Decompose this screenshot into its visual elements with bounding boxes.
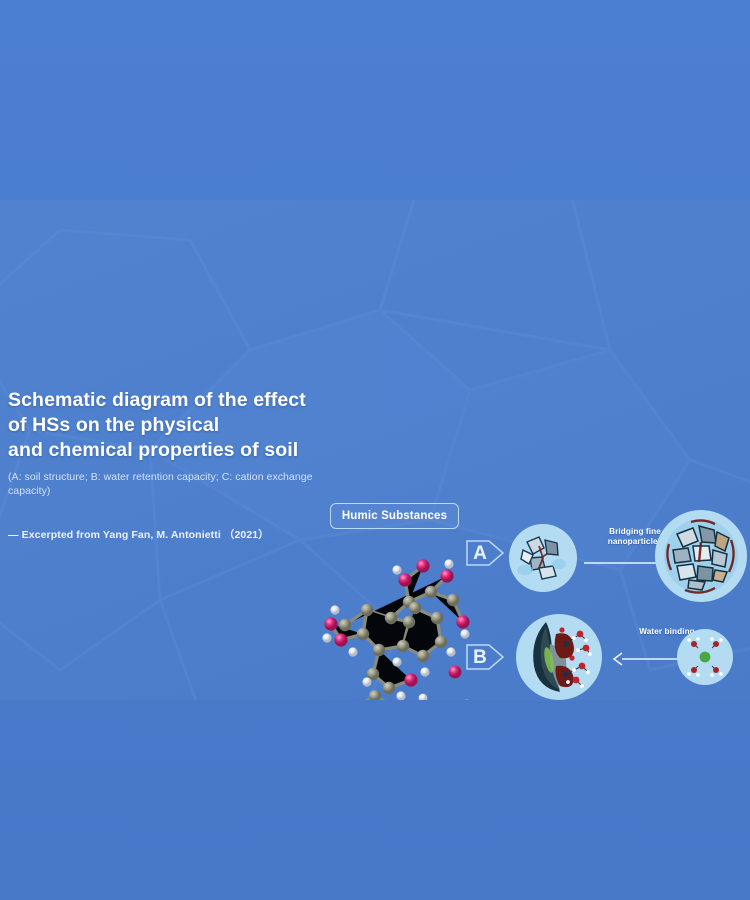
legend-subtitle: (A: soil structure; B: water retention c… <box>8 470 338 498</box>
page-title: Schematic diagram of the effect of HSs o… <box>8 388 338 463</box>
marker-a-letter: A <box>465 533 495 573</box>
humic-substance-molecule-icon <box>305 530 485 700</box>
bubble-aggregated-soil-particles <box>655 510 747 602</box>
source-attribution: — Excerpted from Yang Fan, M. Antonietti… <box>8 527 338 542</box>
marker-a: A <box>465 533 505 573</box>
diagram-row-a: A <box>460 505 750 605</box>
marker-b: B <box>465 637 505 677</box>
figure-panel: Schematic diagram of the effect of HSs o… <box>0 200 750 700</box>
diagram-row-b: B <box>460 605 750 700</box>
caption-block: Schematic diagram of the effect of HSs o… <box>8 388 338 542</box>
page-background: Schematic diagram of the effect of HSs o… <box>0 0 750 900</box>
title-line-3: and chemical properties of soil <box>8 438 338 463</box>
humic-substances-label-text: Humic Substances <box>342 510 447 522</box>
bubble-humic-coated-mineral-surface <box>516 614 602 700</box>
bubble-hydrated-cation-water-shell <box>677 629 733 685</box>
marker-b-letter: B <box>465 637 495 677</box>
bubble-loose-soil-particles <box>509 524 577 592</box>
humic-substances-label: Humic Substances <box>330 503 459 529</box>
title-line-2: of HSs on the physical <box>8 413 338 438</box>
title-line-1: Schematic diagram of the effect <box>8 388 338 413</box>
